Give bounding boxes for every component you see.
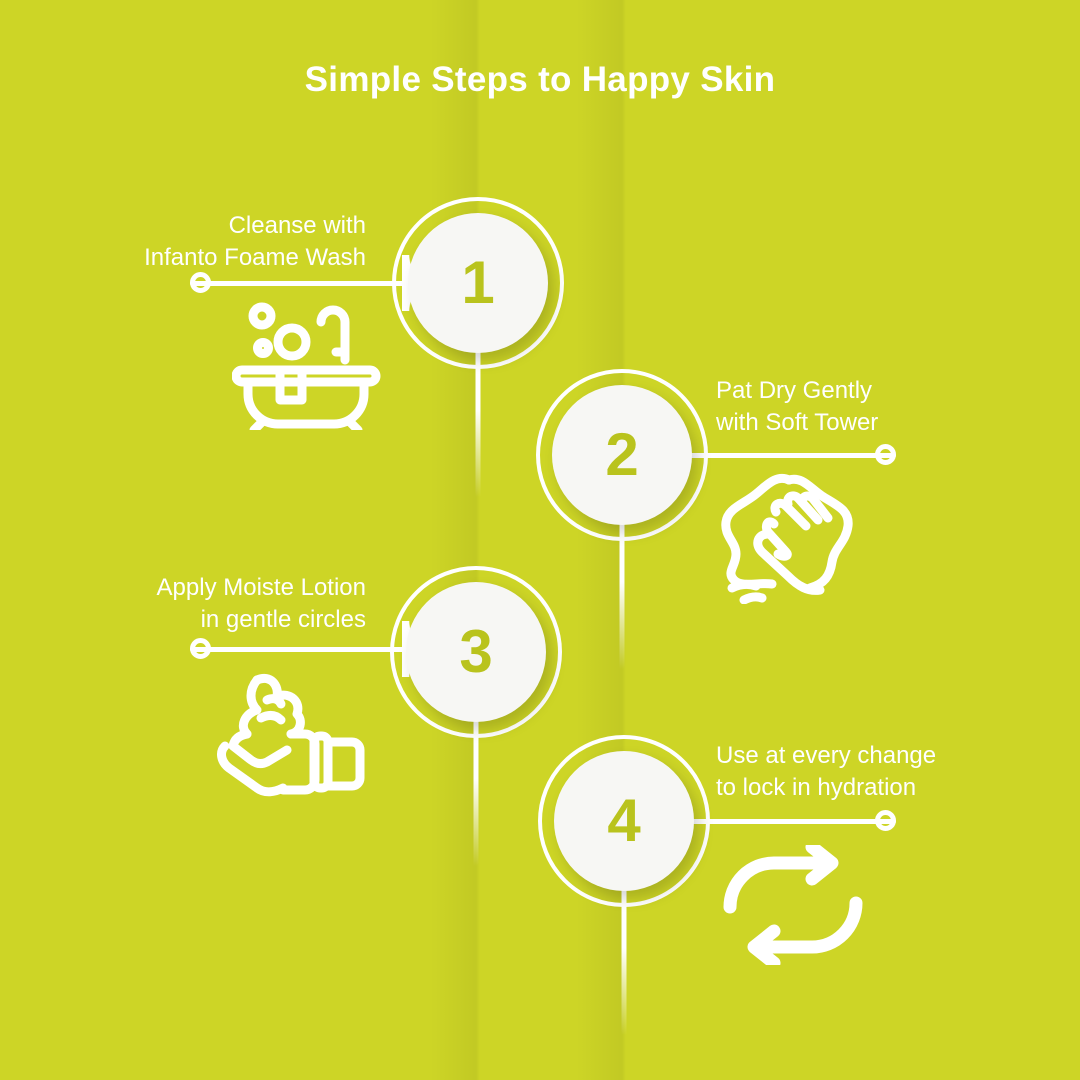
step-4-marker[interactable]: 4 xyxy=(538,735,710,907)
hand-towel-wipe-icon xyxy=(714,472,874,604)
step-4-number: 4 xyxy=(607,791,640,851)
connector-endpoint-dot xyxy=(190,638,211,659)
marker-tail xyxy=(474,716,479,866)
infographic-canvas: Simple Steps to Happy Skin Cleanse with … xyxy=(0,0,1080,1080)
step-4-caption: Use at every change to lock in hydration xyxy=(716,740,1046,804)
connector-endpoint-dot xyxy=(875,810,896,831)
step-1-marker[interactable]: 1 xyxy=(392,197,564,369)
step-3-number: 3 xyxy=(459,622,492,682)
marker-tail xyxy=(622,885,627,1035)
refresh-loop-icon xyxy=(718,845,868,965)
step-2-marker[interactable]: 2 xyxy=(536,369,708,541)
step-1-number: 1 xyxy=(461,253,494,313)
step-2-caption: Pat Dry Gently with Soft Tower xyxy=(716,375,1046,439)
connector-endpoint-dot xyxy=(190,272,211,293)
marker-disc: 3 xyxy=(406,582,546,722)
step-2-number: 2 xyxy=(605,425,638,485)
marker-tail xyxy=(476,347,481,497)
step-1-caption: Cleanse with Infanto Foame Wash xyxy=(36,210,366,274)
marker-tail xyxy=(620,519,625,669)
hand-lotion-icon xyxy=(215,670,370,798)
page-title: Simple Steps to Happy Skin xyxy=(0,60,1080,100)
connector-endpoint-dot xyxy=(875,444,896,465)
marker-disc: 2 xyxy=(552,385,692,525)
marker-disc: 4 xyxy=(554,751,694,891)
step-3-caption: Apply Moiste Lotion in gentle circles xyxy=(36,572,366,636)
marker-disc: 1 xyxy=(408,213,548,353)
bathtub-icon xyxy=(232,300,382,430)
background-shade-left xyxy=(430,0,480,1080)
step-3-marker[interactable]: 3 xyxy=(390,566,562,738)
